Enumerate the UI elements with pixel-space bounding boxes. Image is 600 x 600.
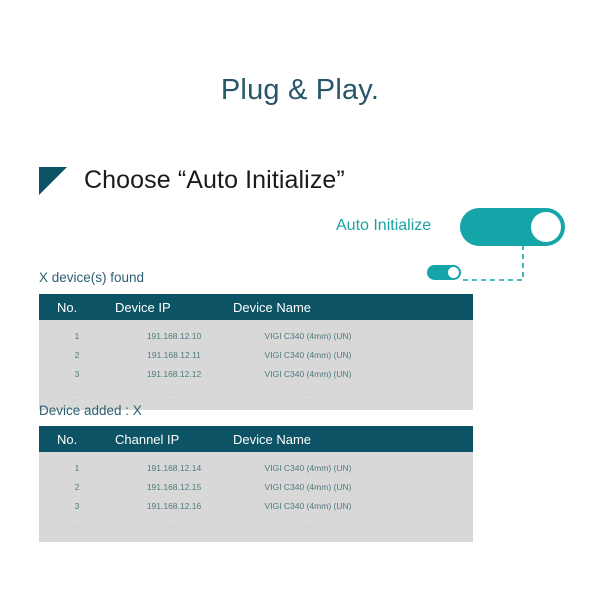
section-heading: Choose “Auto Initialize” xyxy=(39,165,345,195)
cell-no: 2 xyxy=(39,482,115,492)
connector-dashed-line xyxy=(455,240,535,285)
column-header-no: No. xyxy=(39,432,115,447)
devices-found-table: No. Device IP Device Name 1 191.168.12.1… xyxy=(39,294,473,410)
devices-added-table: No. Channel IP Device Name 1 191.168.12.… xyxy=(39,426,473,542)
cell-no: 3 xyxy=(39,501,115,511)
table-header-row: No. Device IP Device Name xyxy=(39,294,473,320)
cell-device-name: VIGI C340 (4mm) (UN) xyxy=(233,369,383,379)
cell-channel-ip: 191.168.12.15 xyxy=(115,482,233,492)
toggle-knob xyxy=(531,212,561,242)
table-row[interactable]: 2 191.168.12.11 VIGI C340 (4mm) (UN) xyxy=(39,345,473,364)
cell-device-name: VIGI C340 (4mm) (UN) xyxy=(233,331,383,341)
table-row-ellipsis: ...... ...... ...... xyxy=(39,383,473,402)
plug-and-play-page: Plug & Play. Choose “Auto Initialize” Au… xyxy=(0,0,600,600)
table-row[interactable]: 2 191.168.12.15 VIGI C340 (4mm) (UN) xyxy=(39,477,473,496)
cell-channel-ip: 191.168.12.16 xyxy=(115,501,233,511)
column-header-channel-ip: Channel IP xyxy=(115,432,233,447)
table-row[interactable]: 1 191.168.12.10 VIGI C340 (4mm) (UN) xyxy=(39,326,473,345)
cell-no-ellipsis: ...... xyxy=(39,388,115,397)
triangle-marker-icon xyxy=(39,167,67,195)
column-header-device-name: Device Name xyxy=(233,432,383,447)
cell-device-name-ellipsis: ...... xyxy=(233,520,383,529)
table-row[interactable]: 1 191.168.12.14 VIGI C340 (4mm) (UN) xyxy=(39,458,473,477)
column-header-device-name: Device Name xyxy=(233,300,383,315)
table-body: 1 191.168.12.14 VIGI C340 (4mm) (UN) 2 1… xyxy=(39,452,473,542)
column-header-device-ip: Device IP xyxy=(115,300,233,315)
cell-device-ip: 191.168.12.11 xyxy=(115,350,233,360)
cell-device-name-ellipsis: ...... xyxy=(233,388,383,397)
page-title: Plug & Play. xyxy=(0,74,600,107)
cell-no: 3 xyxy=(39,369,115,379)
cell-device-ip-ellipsis: ...... xyxy=(115,388,233,397)
cell-device-ip: 191.168.12.12 xyxy=(115,369,233,379)
table-row[interactable]: 3 191.168.12.16 VIGI C340 (4mm) (UN) xyxy=(39,496,473,515)
cell-device-name: VIGI C340 (4mm) (UN) xyxy=(233,501,383,511)
devices-found-caption: X device(s) found xyxy=(39,270,144,285)
cell-device-name: VIGI C340 (4mm) (UN) xyxy=(233,482,383,492)
column-header-no: No. xyxy=(39,300,115,315)
cell-channel-ip-ellipsis: ...... xyxy=(115,520,233,529)
toggle-knob-small xyxy=(448,267,459,278)
cell-channel-ip: 191.168.12.14 xyxy=(115,463,233,473)
section-heading-label: Choose “Auto Initialize” xyxy=(84,166,345,195)
devices-added-caption: Device added : X xyxy=(39,403,142,418)
cell-device-name: VIGI C340 (4mm) (UN) xyxy=(233,463,383,473)
cell-no: 1 xyxy=(39,331,115,341)
cell-device-ip: 191.168.12.10 xyxy=(115,331,233,341)
cell-device-name: VIGI C340 (4mm) (UN) xyxy=(233,350,383,360)
table-row[interactable]: 3 191.168.12.12 VIGI C340 (4mm) (UN) xyxy=(39,364,473,383)
cell-no: 2 xyxy=(39,350,115,360)
table-header-row: No. Channel IP Device Name xyxy=(39,426,473,452)
auto-initialize-label: Auto Initialize xyxy=(336,217,431,235)
auto-initialize-toggle-small[interactable] xyxy=(427,265,461,280)
table-body: 1 191.168.12.10 VIGI C340 (4mm) (UN) 2 1… xyxy=(39,320,473,410)
cell-no: 1 xyxy=(39,463,115,473)
table-row-ellipsis: ...... ...... ...... xyxy=(39,515,473,534)
cell-no-ellipsis: ...... xyxy=(39,520,115,529)
